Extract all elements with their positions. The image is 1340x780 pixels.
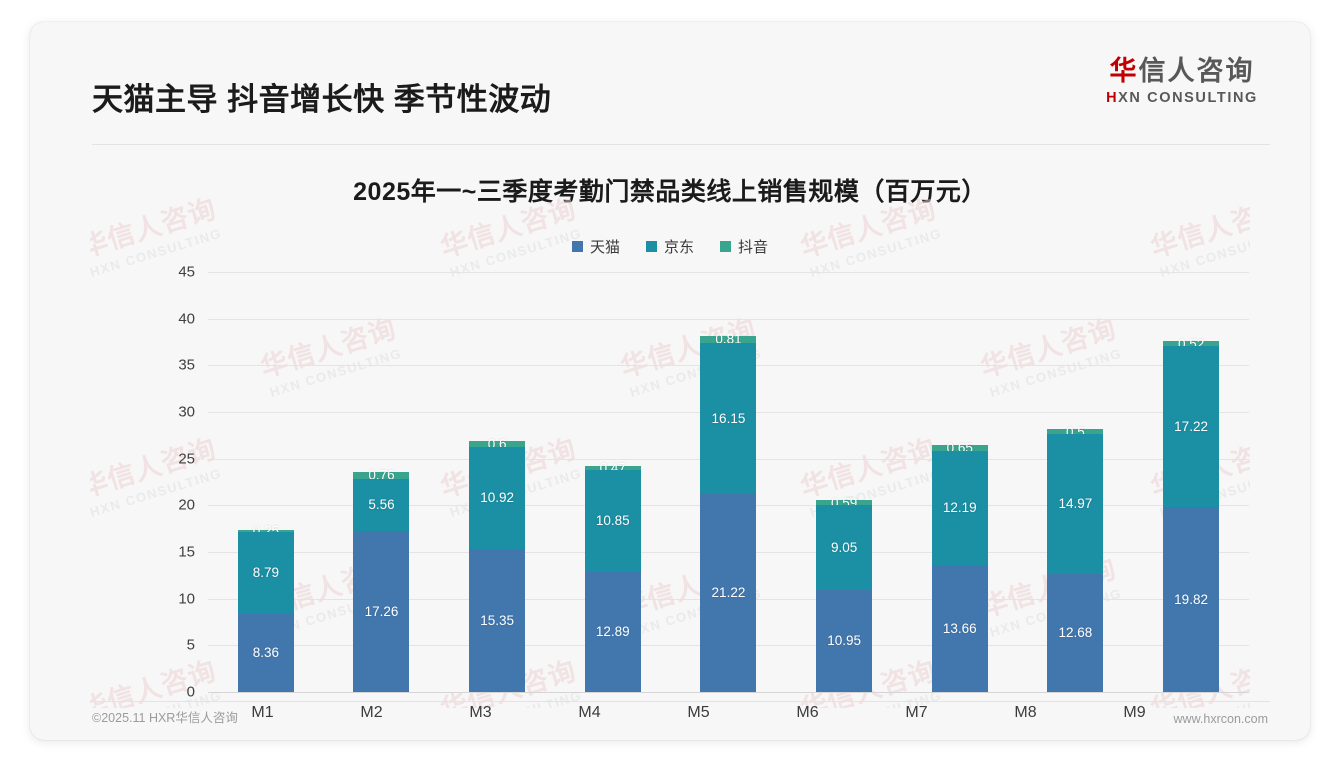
brand-logo-cn-rest: 信人咨询	[1139, 56, 1255, 86]
brand-logo-cn: 华信人咨询	[1092, 56, 1272, 86]
bar-segment-京东[interactable]: 16.15	[700, 343, 756, 494]
x-axis-tick-label: M5	[644, 704, 753, 722]
y-axis-tick-label: 35	[151, 357, 195, 374]
footer-copyright: ©2025.11 HXR华信人咨询	[92, 707, 238, 726]
bar-value-label: 10.92	[480, 491, 514, 505]
bar-segment-京东[interactable]: 9.05	[816, 505, 872, 589]
bar-segment-天猫[interactable]: 13.66	[932, 565, 988, 692]
x-axis-tick-label: M3	[426, 704, 535, 722]
bar-value-label: 21.22	[712, 586, 746, 600]
bar-segment-天猫[interactable]: 21.22	[700, 494, 756, 692]
legend-item-京东[interactable]: 京东	[646, 236, 694, 257]
footer-divider	[90, 701, 1270, 702]
y-axis-tick-label: 25	[151, 450, 195, 467]
stacked-bar[interactable]: 0.4710.8512.89	[585, 466, 641, 692]
x-axis-tick-label: M8	[971, 704, 1080, 722]
legend-label: 京东	[664, 236, 694, 257]
bar-group-M1: 0.258.798.36	[210, 272, 321, 692]
bar-group-M2: 0.765.5617.26	[326, 272, 437, 692]
brand-logo-en-rest: XN CONSULTING	[1118, 90, 1258, 106]
x-axis-tick-label: M2	[317, 704, 426, 722]
bar-value-label: 13.66	[943, 622, 977, 636]
y-axis-tick-label: 40	[151, 310, 195, 327]
bar-group-M8: 0.514.9712.68	[1020, 272, 1131, 692]
bar-segment-天猫[interactable]: 17.26	[353, 531, 409, 692]
bar-value-label: 12.89	[596, 625, 630, 639]
legend-item-天猫[interactable]: 天猫	[572, 236, 620, 257]
bar-segment-天猫[interactable]: 12.68	[1047, 574, 1103, 692]
y-axis-tick-label: 10	[151, 590, 195, 607]
x-axis-tick-label: M6	[753, 704, 862, 722]
bar-value-label: 15.35	[480, 614, 514, 628]
chart-x-axis-labels: M1M2M3M4M5M6M7M8M9	[208, 700, 1189, 726]
bar-segment-天猫[interactable]: 10.95	[816, 590, 872, 692]
bar-group-M5: 0.8116.1521.22	[673, 272, 784, 692]
slide-canvas: 天猫主导 抖音增长快 季节性波动 华信人咨询 HXN CONSULTING 20…	[30, 22, 1310, 740]
bar-value-label: 8.79	[253, 566, 279, 580]
stacked-bar[interactable]: 0.610.9215.35	[469, 441, 525, 692]
y-axis-tick-label: 30	[151, 404, 195, 421]
bar-value-label: 12.19	[943, 501, 977, 515]
chart-legend: 天猫京东抖音	[30, 236, 1310, 257]
slide-header: 天猫主导 抖音增长快 季节性波动 华信人咨询 HXN CONSULTING	[30, 22, 1310, 117]
page-title: 天猫主导 抖音增长快 季节性波动	[92, 74, 551, 119]
stacked-bar[interactable]: 0.765.5617.26	[353, 472, 409, 692]
y-axis-tick-label: 20	[151, 497, 195, 514]
bar-value-label: 17.26	[365, 605, 399, 619]
bar-segment-天猫[interactable]: 12.89	[585, 572, 641, 692]
stacked-bar[interactable]: 0.258.798.36	[238, 530, 294, 692]
y-axis-tick-label: 5	[151, 637, 195, 654]
stacked-bar[interactable]: 0.6512.1913.66	[932, 445, 988, 692]
header-divider	[92, 144, 1270, 145]
brand-logo-en-red: H	[1106, 90, 1118, 106]
bar-group-M4: 0.4710.8512.89	[557, 272, 668, 692]
gridline	[208, 692, 1249, 693]
y-axis-tick-label: 15	[151, 544, 195, 561]
bar-segment-京东[interactable]: 10.92	[469, 447, 525, 549]
chart-title: 2025年一~三季度考勤门禁品类线上销售规模（百万元）	[30, 172, 1310, 208]
bar-value-label: 8.36	[253, 646, 279, 660]
bar-value-label: 17.22	[1174, 420, 1208, 434]
footer-website: www.hxrcon.com	[1174, 712, 1268, 726]
brand-logo-cn-red: 华	[1110, 56, 1139, 86]
y-axis-tick-label: 0	[151, 684, 195, 701]
bar-group-M7: 0.6512.1913.66	[904, 272, 1015, 692]
legend-swatch-icon	[720, 241, 731, 252]
bar-value-label: 16.15	[712, 412, 746, 426]
bar-value-label: 10.95	[827, 634, 861, 648]
bar-group-M6: 0.599.0510.95	[789, 272, 900, 692]
bar-value-label: 12.68	[1059, 626, 1093, 640]
legend-label: 天猫	[590, 236, 620, 257]
bar-segment-天猫[interactable]: 19.82	[1163, 507, 1219, 692]
legend-label: 抖音	[738, 236, 768, 257]
bar-group-M9: 0.5217.2219.82	[1136, 272, 1247, 692]
bar-segment-京东[interactable]: 14.97	[1047, 434, 1103, 574]
stacked-bar[interactable]: 0.514.9712.68	[1047, 429, 1103, 692]
x-axis-tick-label: M4	[535, 704, 644, 722]
stacked-bar[interactable]: 0.5217.2219.82	[1163, 341, 1219, 692]
chart-bars: 0.258.798.360.765.5617.260.610.9215.350.…	[208, 272, 1249, 692]
bar-segment-京东[interactable]: 10.85	[585, 470, 641, 571]
bar-segment-京东[interactable]: 5.56	[353, 479, 409, 531]
x-axis-tick-label: M7	[862, 704, 971, 722]
stacked-bar[interactable]: 0.8116.1521.22	[700, 336, 756, 692]
bar-value-label: 14.97	[1059, 497, 1093, 511]
bar-segment-京东[interactable]: 17.22	[1163, 346, 1219, 507]
legend-swatch-icon	[646, 241, 657, 252]
bar-segment-抖音[interactable]: 0.81	[700, 336, 756, 344]
bar-segment-天猫[interactable]: 15.35	[469, 549, 525, 692]
brand-logo-en: HXN CONSULTING	[1092, 88, 1272, 108]
y-axis-tick-label: 45	[151, 264, 195, 281]
bar-group-M3: 0.610.9215.35	[442, 272, 553, 692]
bar-segment-抖音[interactable]: 0.76	[353, 472, 409, 479]
chart-plot-area: 051015202530354045 0.258.798.360.765.561…	[151, 272, 1249, 692]
brand-logo: 华信人咨询 HXN CONSULTING	[1092, 56, 1272, 108]
bar-segment-天猫[interactable]: 8.36	[238, 614, 294, 692]
legend-swatch-icon	[572, 241, 583, 252]
bar-segment-京东[interactable]: 12.19	[932, 451, 988, 565]
bar-value-label: 10.85	[596, 514, 630, 528]
stacked-bar[interactable]: 0.599.0510.95	[816, 500, 872, 692]
bar-value-label: 5.56	[368, 498, 394, 512]
legend-item-抖音[interactable]: 抖音	[720, 236, 768, 257]
bar-segment-京东[interactable]: 8.79	[238, 532, 294, 614]
bar-value-label: 19.82	[1174, 593, 1208, 607]
bar-value-label: 9.05	[831, 541, 857, 555]
